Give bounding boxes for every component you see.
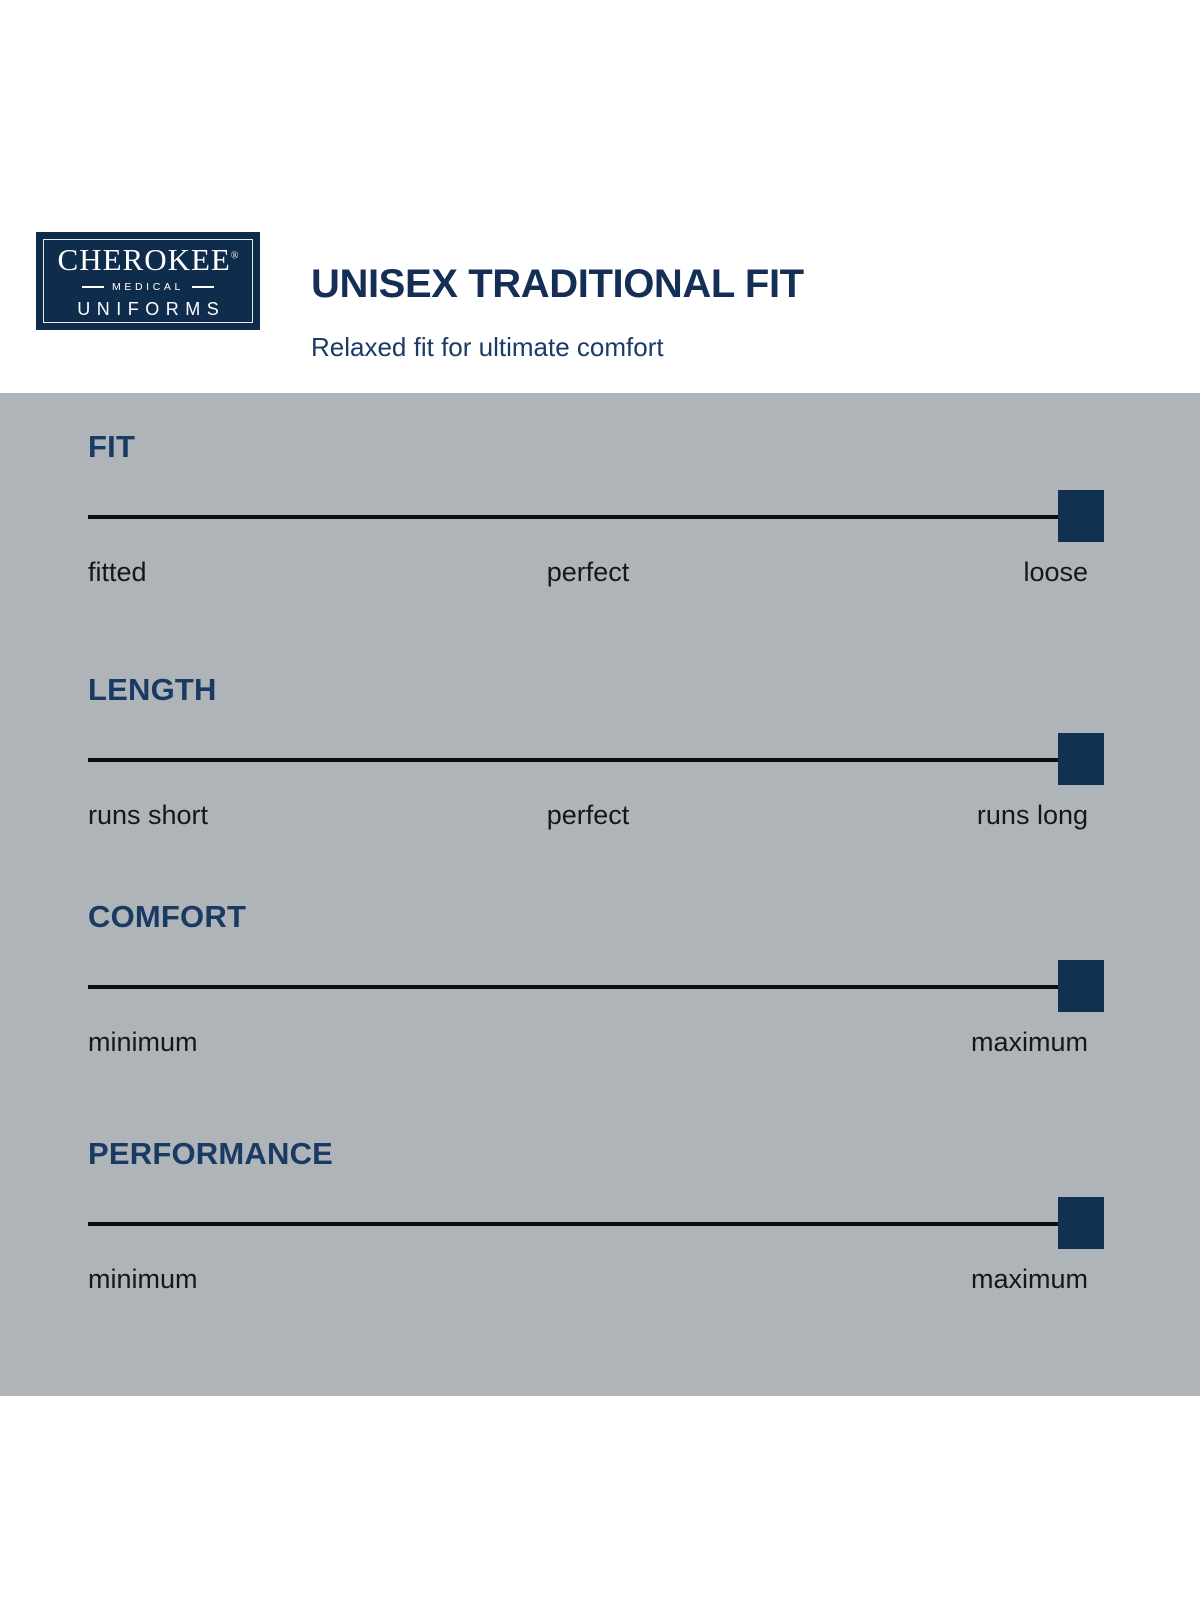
scale-track-performance[interactable] — [88, 1197, 1088, 1249]
track-line-performance — [88, 1222, 1084, 1226]
scale-labels-length: runs short perfect runs long — [88, 799, 1088, 837]
scale-marker-fit[interactable] — [1058, 490, 1104, 542]
logo-medical-row: MEDICAL — [44, 282, 252, 293]
logo-medical-text: MEDICAL — [104, 282, 192, 293]
scale-label-length-left: runs short — [88, 799, 208, 831]
page-title: UNISEX TRADITIONAL FIT — [311, 263, 804, 306]
header-content: CHEROKEE® MEDICAL UNIFORMS UNISEX TRADIT… — [36, 232, 804, 361]
logo-brand-name: CHEROKEE® — [58, 244, 239, 275]
scale-heading-fit: FIT — [88, 431, 1088, 462]
track-line-fit — [88, 515, 1084, 519]
scale-fit: FIT fitted perfect loose — [88, 431, 1088, 594]
scale-label-length-center: perfect — [547, 799, 630, 831]
cherokee-medical-uniforms-logo: CHEROKEE® MEDICAL UNIFORMS — [36, 232, 260, 330]
scale-length: LENGTH runs short perfect runs long — [88, 674, 1088, 837]
scale-label-length-right: runs long — [977, 799, 1088, 831]
track-line-length — [88, 758, 1084, 762]
scale-heading-comfort: COMFORT — [88, 901, 1088, 932]
scale-label-fit-left: fitted — [88, 556, 147, 588]
scale-track-fit[interactable] — [88, 490, 1088, 542]
registered-trademark-icon: ® — [231, 250, 239, 261]
scale-label-fit-center: perfect — [547, 556, 630, 588]
scale-track-length[interactable] — [88, 733, 1088, 785]
track-line-comfort — [88, 985, 1084, 989]
page-subtitle: Relaxed fit for ultimate comfort — [311, 333, 804, 362]
scale-track-comfort[interactable] — [88, 960, 1088, 1012]
scale-labels-comfort: minimum maximum — [88, 1026, 1088, 1064]
logo-brand-text: CHEROKEE — [58, 242, 231, 277]
scale-comfort: COMFORT minimum maximum — [88, 901, 1088, 1064]
scale-heading-performance: PERFORMANCE — [88, 1138, 1088, 1169]
scale-heading-length: LENGTH — [88, 674, 1088, 705]
scale-marker-comfort[interactable] — [1058, 960, 1104, 1012]
logo-rule-left-icon — [82, 286, 104, 288]
scale-labels-performance: minimum maximum — [88, 1263, 1088, 1301]
scale-performance: PERFORMANCE minimum maximum — [88, 1138, 1088, 1301]
scale-label-fit-right: loose — [1023, 556, 1088, 588]
scale-label-performance-left: minimum — [88, 1263, 198, 1295]
scale-label-comfort-right: maximum — [971, 1026, 1088, 1058]
scale-labels-fit: fitted perfect loose — [88, 556, 1088, 594]
scale-label-comfort-left: minimum — [88, 1026, 198, 1058]
fit-scales-panel: FIT fitted perfect loose LENGTH runs sho… — [0, 393, 1200, 1396]
scale-label-performance-right: maximum — [971, 1263, 1088, 1295]
scale-marker-performance[interactable] — [1058, 1197, 1104, 1249]
logo-inner-frame: CHEROKEE® MEDICAL UNIFORMS — [43, 239, 253, 323]
scale-marker-length[interactable] — [1058, 733, 1104, 785]
logo-rule-right-icon — [192, 286, 214, 288]
logo-uniforms-text: UNIFORMS — [71, 300, 226, 318]
title-block: UNISEX TRADITIONAL FIT Relaxed fit for u… — [311, 232, 804, 361]
page-header: CHEROKEE® MEDICAL UNIFORMS UNISEX TRADIT… — [0, 0, 1200, 393]
